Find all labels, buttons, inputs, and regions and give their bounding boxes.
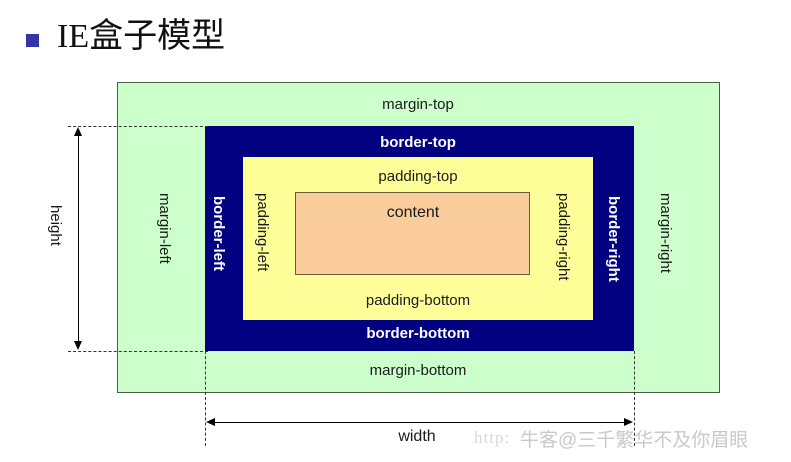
label-margin-top: margin-top <box>382 97 454 112</box>
label-border-top: border-top <box>380 135 456 150</box>
label-margin-right: margin-right <box>658 193 673 273</box>
label-padding-bottom: padding-bottom <box>366 293 470 308</box>
label-margin-left: margin-left <box>157 193 172 264</box>
label-height: height <box>48 205 63 246</box>
label-content: content <box>387 205 439 221</box>
label-border-right: border-right <box>606 196 621 282</box>
height-arrow-line <box>78 130 79 347</box>
height-guide-bottom <box>68 351 208 352</box>
height-arrowhead-bottom <box>74 341 82 350</box>
label-width: width <box>398 429 435 445</box>
width-arrow-line <box>209 422 630 423</box>
height-arrowhead-top <box>74 127 82 136</box>
label-padding-top: padding-top <box>378 169 457 184</box>
width-arrowhead-right <box>624 418 633 426</box>
label-padding-left: padding-left <box>255 193 270 271</box>
label-margin-bottom: margin-bottom <box>370 363 467 378</box>
width-arrowhead-left <box>206 418 215 426</box>
label-border-bottom: border-bottom <box>366 326 469 341</box>
label-padding-right: padding-right <box>556 193 571 281</box>
box-model-diagram: margin-top margin-bottom margin-left mar… <box>0 0 791 462</box>
width-guide-left <box>205 351 206 446</box>
label-border-left: border-left <box>211 196 226 271</box>
height-guide-top <box>68 126 208 127</box>
width-guide-right <box>634 351 635 446</box>
